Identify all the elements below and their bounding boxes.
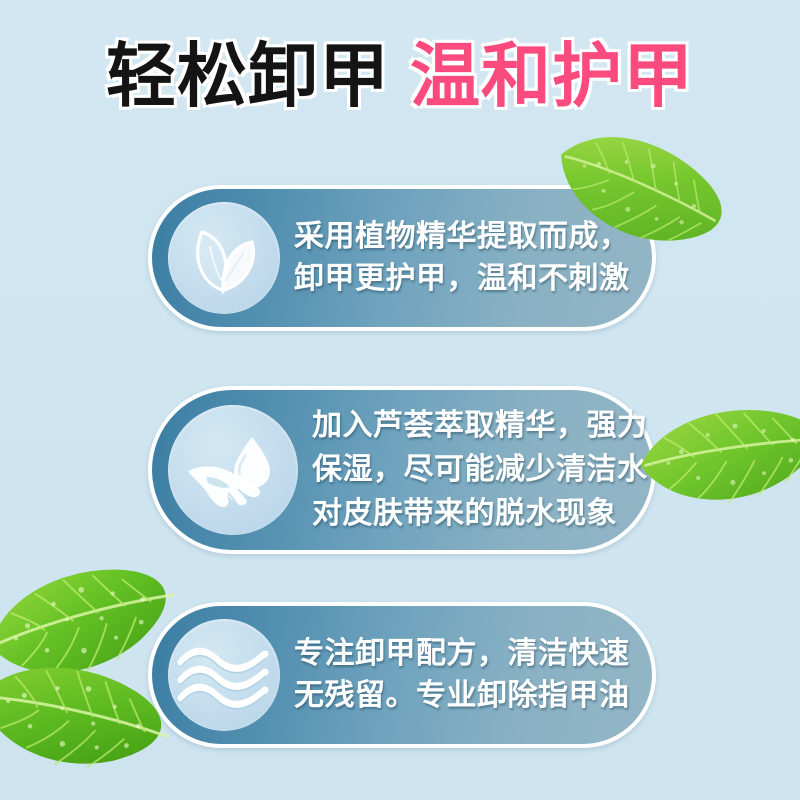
leaf-pair-icon	[168, 202, 280, 314]
card-line: 专注卸甲配方，清洁快速	[294, 633, 630, 675]
card-line: 采用植物精华提取而成，	[294, 216, 630, 258]
page-title: 轻松卸甲温和护甲	[0, 36, 800, 116]
water-waves-icon	[168, 619, 280, 731]
card-line: 对皮肤带来的脱水现象	[312, 492, 648, 536]
title-segment-black: 轻松卸甲	[106, 36, 390, 116]
feature-card-aloe-moisture[interactable]: 加入芦荟萃取精华，强力 保湿，尽可能减少清洁水 对皮肤带来的脱水现象	[148, 386, 656, 554]
card-line: 卸甲更护甲，温和不刺激	[294, 258, 630, 300]
feature-card-text: 加入芦荟萃取精华，强力 保湿，尽可能减少清洁水 对皮肤带来的脱水现象	[312, 404, 670, 536]
feature-card-nail-polish-remover[interactable]: 专注卸甲配方，清洁快速 无残留。专业卸除指甲油	[148, 602, 656, 748]
card-line: 无残留。专业卸除指甲油	[294, 675, 630, 717]
title-segment-pink: 温和护甲	[410, 36, 694, 116]
card-line: 加入芦荟萃取精华，强力	[312, 404, 648, 448]
feature-card-text: 采用植物精华提取而成， 卸甲更护甲，温和不刺激	[294, 216, 652, 300]
promo-banner: 轻松卸甲温和护甲	[0, 0, 800, 800]
feature-card-plant-essence[interactable]: 采用植物精华提取而成， 卸甲更护甲，温和不刺激	[148, 185, 656, 331]
hand-water-drop-icon	[168, 405, 298, 535]
card-line: 保湿，尽可能减少清洁水	[312, 448, 648, 492]
feature-card-text: 专注卸甲配方，清洁快速 无残留。专业卸除指甲油	[294, 633, 652, 717]
